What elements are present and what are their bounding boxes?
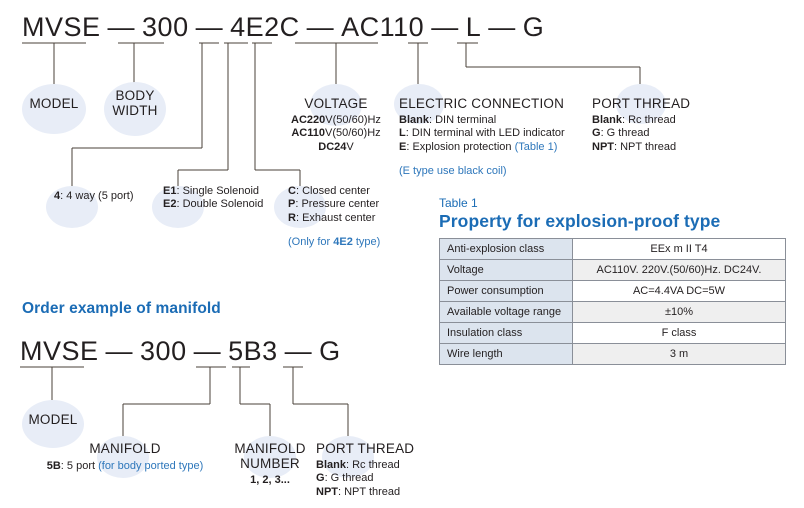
callout-port-thread-line-2: G: G thread [592,127,690,140]
callout-center-note-code: 4E2 [333,236,353,248]
callout-voltage-code-1: AC220 [291,114,325,126]
callout-electric-code-2: L [399,127,406,139]
callout-electric-connection: ELECTRIC CONNECTION Blank: DIN terminal … [399,96,565,179]
manifold-code-dash: — [99,336,141,367]
table-cell-value: 3 m [573,344,786,365]
callout-manifold-port-thread-line-3: NPT: NPT thread [316,486,414,499]
callout-port-thread-desc-1: : Rc thread [622,114,676,126]
callout-electric-line-1: Blank: DIN terminal [399,114,565,127]
callout-voltage-desc-2: V(50/60)Hz [325,127,381,139]
code-segment-model: MVSE [22,12,101,43]
callout-manifold-desc-1: : 5 port [61,460,98,472]
callout-electric-desc-2: : DIN terminal with LED indicator [406,127,565,139]
table1-title: Property for explosion-proof type [439,211,720,232]
manifold-code-segment-model: MVSE [20,336,99,367]
callout-center-code-1: C [288,185,296,197]
callout-voltage-desc-3: V [346,141,353,153]
callout-center-desc-1: : Closed center [296,185,370,197]
callout-center-note: (Only for 4E2 type) [288,236,380,249]
callout-center-note-post: type) [353,236,381,248]
callout-manifold-line-1: 5B: 5 port (for body ported type) [36,460,214,473]
callout-electric-title: ELECTRIC CONNECTION [399,96,565,111]
callout-electric-desc-1: : DIN terminal [429,114,496,126]
callout-solenoid: E1: Single Solenoid E2: Double Solenoid [163,185,263,212]
callout-manifold: MANIFOLD 5B: 5 port (for body ported typ… [36,441,214,473]
table-cell-value: EEx m II T4 [573,239,786,260]
callout-manifold-port-thread-code-2: G [316,472,325,484]
manifold-ordering-code: MVSE—300—5B3—G [20,336,341,367]
table-cell-key: Insulation class [440,323,573,344]
callout-manifold-number: MANIFOLD NUMBER 1, 2, 3... [228,441,312,487]
code-segment-port-thread: G [523,12,545,43]
callout-manifold-note: (for body ported type) [98,460,203,472]
callout-solenoid-desc-2: : Double Solenoid [176,198,263,210]
table-row: Anti-explosion class EEx m II T4 [440,239,786,260]
manifold-code-segment-port-thread: G [319,336,341,367]
callout-center-note-pre: (Only for [288,236,333,248]
callout-center: C: Closed center P: Pressure center R: E… [288,185,380,250]
callout-center-line-3: R: Exhaust center [288,212,380,225]
callout-port-thread-line-1: Blank: Rc thread [592,114,690,127]
table1-reference-link[interactable]: (Table 1) [515,141,558,153]
table-row: Available voltage range ±10% [440,302,786,323]
callout-manifold-title: MANIFOLD [36,441,214,456]
callout-center-desc-2: : Pressure center [295,198,379,210]
explosion-proof-property-table: Anti-explosion class EEx m II T4 Voltage… [439,238,786,365]
table-cell-key: Voltage [440,260,573,281]
callout-body-width-title-2: WIDTH [104,103,166,118]
table-cell-key: Anti-explosion class [440,239,573,260]
table-cell-key: Power consumption [440,281,573,302]
code-segment-function: 4E2C [230,12,300,43]
diagram-canvas: MVSE—300—4E2C—AC110—L—G MODEL BODY WIDTH… [0,0,804,508]
callout-manifold-port-thread-title: PORT THREAD [316,441,414,456]
callout-way: 4: 4 way (5 port) [54,190,133,203]
table1-caption: Table 1 [439,196,478,210]
callout-port-thread-line-3: NPT: NPT thread [592,141,690,154]
table-cell-key: Available voltage range [440,302,573,323]
callout-manifold-port-thread-desc-1: : Rc thread [346,459,400,471]
callout-manifold-code-1: 5B [47,460,61,472]
code-dash: — [101,12,143,43]
code-segment-body-width: 300 [142,12,189,43]
table-row: Voltage AC110V. 220V.(50/60)Hz. DC24V. [440,260,786,281]
callout-manifold-model: MODEL [22,412,84,427]
callout-manifold-port-thread: PORT THREAD Blank: Rc thread G: G thread… [316,441,414,499]
callout-manifold-number-title-1: MANIFOLD [228,441,312,456]
table-cell-value: F class [573,323,786,344]
table-row: Power consumption AC=4.4VA DC=5W [440,281,786,302]
manifold-code-dash: — [278,336,320,367]
callout-way-desc: : 4 way (5 port) [60,190,133,202]
callout-manifold-port-thread-line-1: Blank: Rc thread [316,459,414,472]
code-segment-voltage: AC110 [341,12,424,43]
manifold-code-segment-body-width: 300 [140,336,187,367]
callout-port-thread-title: PORT THREAD [592,96,690,111]
callout-way-line: 4: 4 way (5 port) [54,190,133,203]
callout-model-title: MODEL [22,96,86,111]
callout-port-thread-code-2: G [592,127,601,139]
table-cell-value: ±10% [573,302,786,323]
code-dash: — [481,12,523,43]
callout-manifold-number-values: 1, 2, 3... [228,474,312,487]
callout-port-thread: PORT THREAD Blank: Rc thread G: G thread… [592,96,690,154]
callout-voltage-code-3: DC24 [318,141,346,153]
callout-solenoid-line-1: E1: Single Solenoid [163,185,263,198]
callout-solenoid-code-2: E2 [163,198,176,210]
callout-electric-note: (E type use black coil) [399,165,565,178]
callout-manifold-number-title-2: NUMBER [228,456,312,471]
code-dash: — [300,12,342,43]
callout-electric-line-3: E: Explosion protection (Table 1) [399,141,565,154]
callout-solenoid-code-1: E1 [163,185,176,197]
code-dash: — [189,12,231,43]
callout-solenoid-desc-1: : Single Solenoid [176,185,259,197]
callout-port-thread-desc-2: : G thread [601,127,650,139]
callout-electric-code-1: Blank [399,114,429,126]
callout-port-thread-code-3: NPT [592,141,614,153]
callout-body-width: BODY WIDTH [104,88,166,118]
callout-electric-desc-3: : Explosion protection [406,141,514,153]
table-row: Wire length 3 m [440,344,786,365]
table-cell-value: AC110V. 220V.(50/60)Hz. DC24V. [573,260,786,281]
callout-manifold-model-title: MODEL [22,412,84,427]
callout-manifold-port-thread-code-3: NPT [316,486,338,498]
table-row: Insulation class F class [440,323,786,344]
callout-solenoid-line-2: E2: Double Solenoid [163,198,263,211]
callout-voltage-code-2: AC110 [291,127,325,139]
table-cell-value: AC=4.4VA DC=5W [573,281,786,302]
callout-manifold-port-thread-code-1: Blank [316,459,346,471]
callout-manifold-port-thread-desc-3: : NPT thread [338,486,400,498]
manifold-code-dash: — [187,336,229,367]
callout-model: MODEL [22,96,86,111]
code-dash: — [424,12,466,43]
manifold-section-heading: Order example of manifold [22,300,221,318]
manifold-code-segment-manifold: 5B3 [228,336,278,367]
callout-center-code-3: R [288,212,296,224]
table-cell-key: Wire length [440,344,573,365]
callout-center-desc-3: : Exhaust center [296,212,376,224]
callout-port-thread-code-1: Blank [592,114,622,126]
callout-body-width-title-1: BODY [104,88,166,103]
table1-body: Anti-explosion class EEx m II T4 Voltage… [440,239,786,365]
ordering-code: MVSE—300—4E2C—AC110—L—G [22,12,544,43]
callout-center-line-1: C: Closed center [288,185,380,198]
callout-manifold-port-thread-line-2: G: G thread [316,472,414,485]
callout-port-thread-desc-3: : NPT thread [614,141,676,153]
callout-center-line-2: P: Pressure center [288,198,380,211]
callout-electric-line-2: L: DIN terminal with LED indicator [399,127,565,140]
callout-voltage-desc-1: V(50/60)Hz [325,114,381,126]
code-segment-connection: L [466,12,482,43]
callout-manifold-port-thread-desc-2: : G thread [325,472,374,484]
